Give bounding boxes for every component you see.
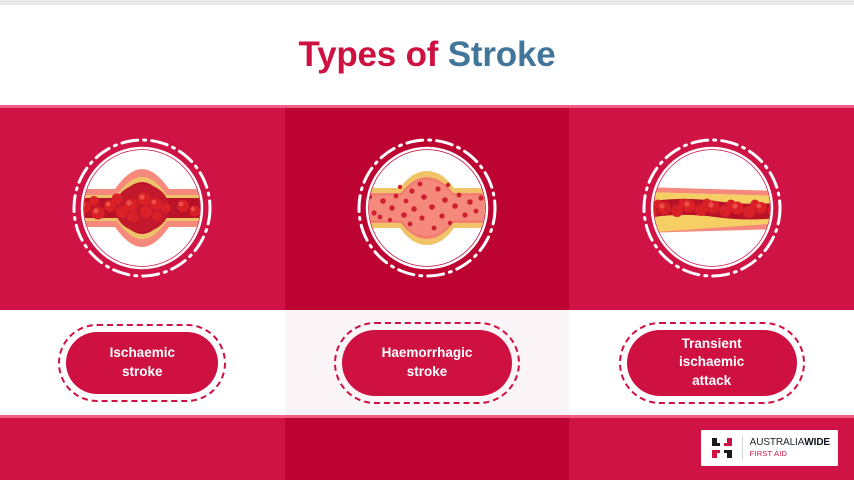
illustration-cell-haemorrhagic bbox=[285, 105, 570, 310]
ischaemic-stroke-vessel-clot-icon bbox=[67, 133, 217, 283]
footer-cell-left bbox=[0, 415, 285, 480]
illustration-cell-transient-ischaemic-attack bbox=[569, 105, 854, 310]
logo-line-2: FIRST AID bbox=[750, 450, 830, 458]
page-title-blue: Stroke bbox=[448, 35, 556, 74]
pill-text-line3: attack bbox=[692, 373, 731, 388]
pill-text-line1: Transient bbox=[682, 336, 742, 351]
pill-text: Transientischaemicattack bbox=[679, 335, 744, 390]
footer-cell-middle bbox=[285, 415, 570, 480]
pink-rule-bottom bbox=[0, 415, 854, 418]
label-cell-haemorrhagic: Haemorrhagicstroke bbox=[285, 310, 570, 415]
logo-line-1: AUSTRALIAWIDE bbox=[750, 438, 830, 448]
label-cell-transient-ischaemic-attack: Transientischaemicattack bbox=[569, 310, 854, 415]
pill-body[interactable]: Ischaemicstroke bbox=[66, 332, 218, 394]
australia-wide-cross-mark-icon bbox=[709, 435, 735, 461]
pill-text-line2: stroke bbox=[407, 364, 448, 379]
label-pill-transient-ischaemic-attack[interactable]: Transientischaemicattack bbox=[627, 330, 797, 396]
haemorrhagic-stroke-vessel-bulge-icon bbox=[352, 133, 502, 283]
pill-text-line2: ischaemic bbox=[679, 354, 744, 369]
label-band: Ischaemicstroke Haemorrhagicstroke Trans… bbox=[0, 310, 854, 415]
logo-divider bbox=[742, 436, 743, 460]
label-cell-ischaemic: Ischaemicstroke bbox=[0, 310, 285, 415]
label-pill-haemorrhagic[interactable]: Haemorrhagicstroke bbox=[342, 330, 512, 396]
logo-wide: WIDE bbox=[804, 437, 830, 448]
brand-logo[interactable]: AUSTRALIAWIDE FIRST AID bbox=[701, 430, 838, 466]
pill-text: Haemorrhagicstroke bbox=[382, 344, 473, 380]
footer-cell-right: AUSTRALIAWIDE FIRST AID bbox=[569, 415, 854, 480]
footer-band: AUSTRALIAWIDE FIRST AID bbox=[0, 415, 854, 480]
illustration-cell-ischaemic bbox=[0, 105, 285, 310]
pill-body[interactable]: Transientischaemicattack bbox=[627, 330, 797, 396]
transient-ischaemic-attack-vessel-plaque-icon bbox=[637, 133, 787, 283]
pill-text-line2: stroke bbox=[122, 364, 163, 379]
label-pill-ischaemic[interactable]: Ischaemicstroke bbox=[66, 332, 218, 394]
pink-rule-top bbox=[0, 105, 854, 108]
pill-body[interactable]: Haemorrhagicstroke bbox=[342, 330, 512, 396]
page-title: Types of Stroke bbox=[299, 35, 556, 75]
illustration-band bbox=[0, 105, 854, 310]
title-area: Types of Stroke bbox=[0, 5, 854, 105]
pill-text-line1: Haemorrhagic bbox=[382, 345, 473, 360]
logo-wordmark: AUSTRALIAWIDE FIRST AID bbox=[750, 438, 830, 458]
pill-text: Ischaemicstroke bbox=[110, 344, 175, 380]
infographic-slide: Types of Stroke bbox=[0, 0, 854, 480]
logo-australia: AUSTRALIA bbox=[750, 437, 805, 448]
page-title-red: Types of bbox=[299, 35, 439, 74]
pill-text-line1: Ischaemic bbox=[110, 345, 175, 360]
